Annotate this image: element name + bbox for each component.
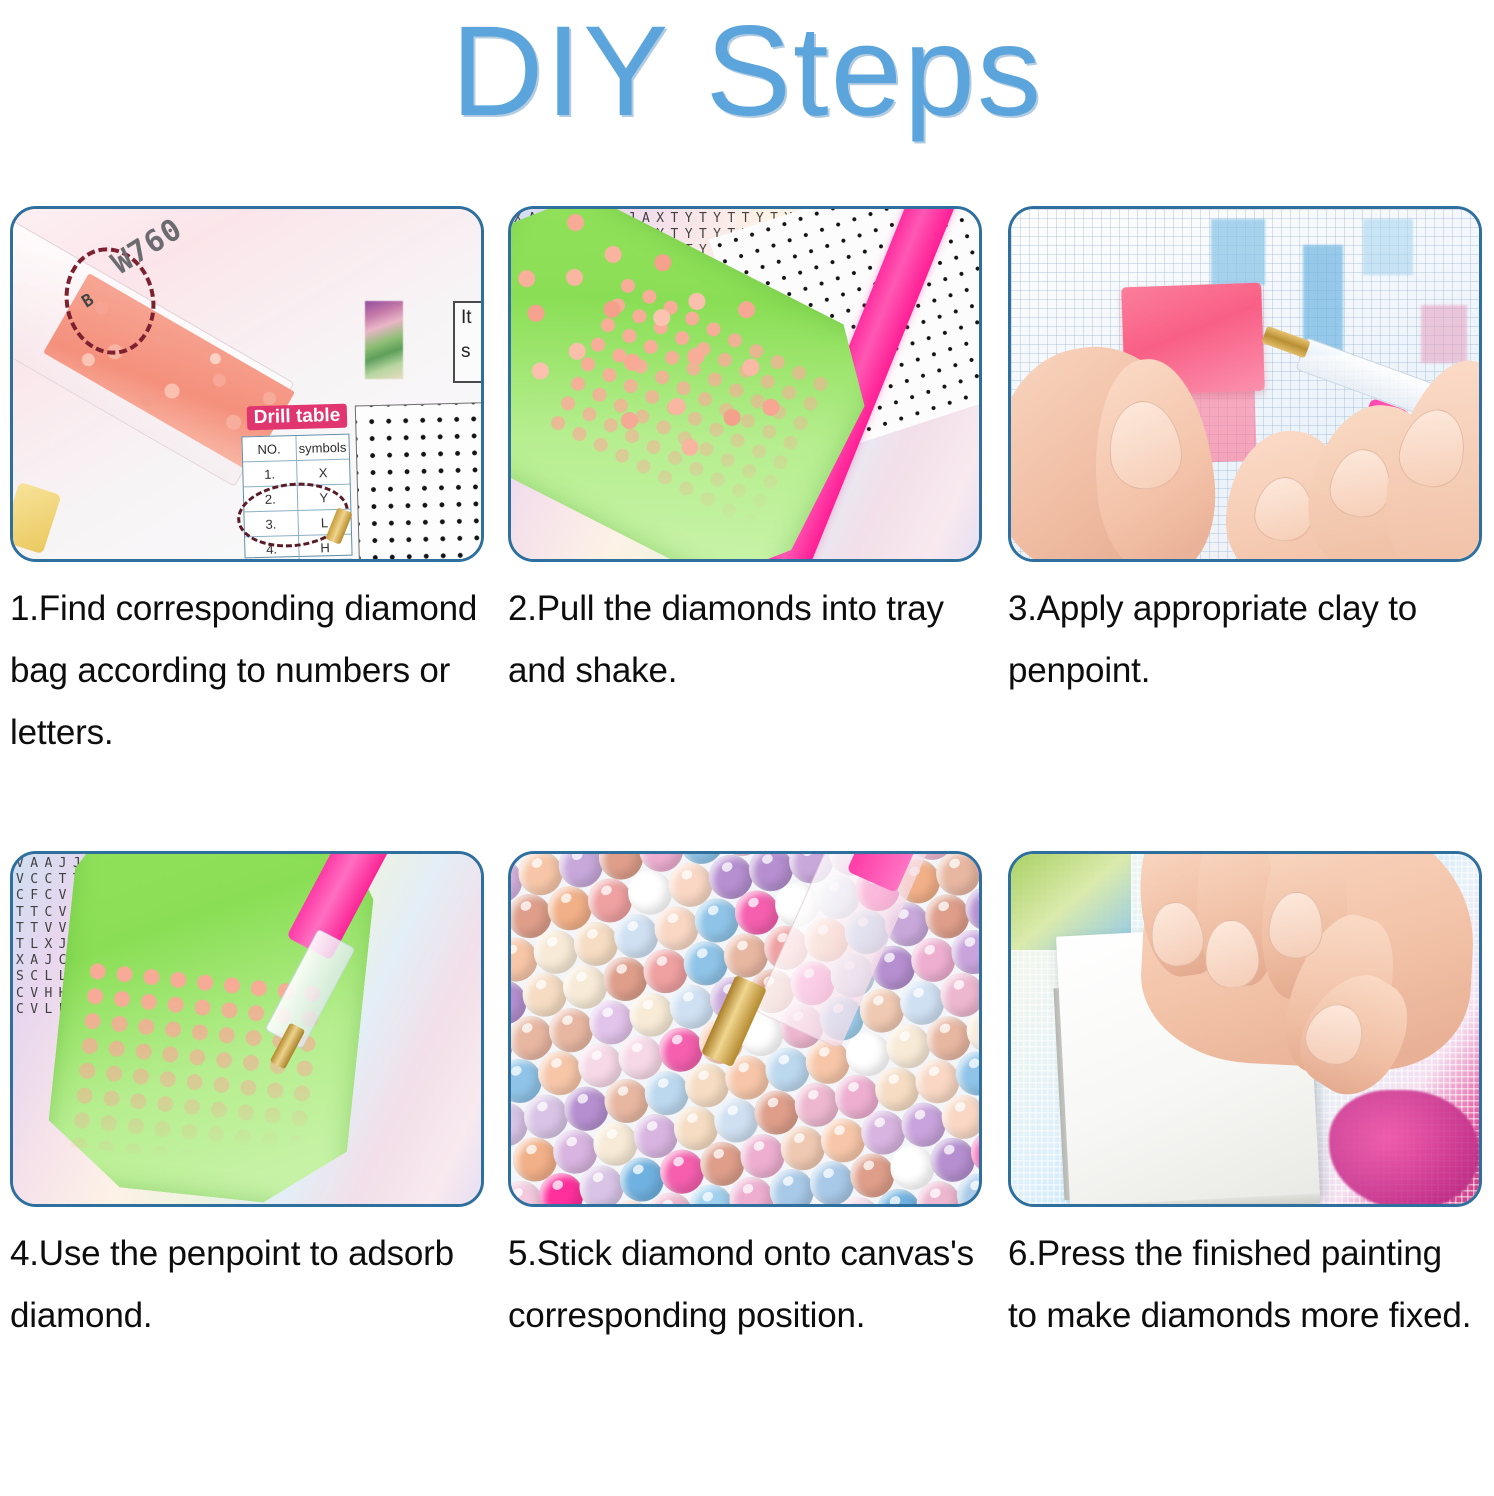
pegboard-dots [355, 401, 484, 562]
steps-row-2: VAAJJXVVTTLLVVLCLL VCCTTLLCVVLLCCVVLL CF… [0, 851, 1494, 1496]
drill-table-header-row: NO. symbols [242, 435, 349, 463]
step-caption-6: 6.Press the finished painting to make di… [1008, 1223, 1478, 1347]
step-card-4: VAAJJXVVTTLLVVLCLL VCCTTLLCVVLLCCVVLL CF… [10, 851, 484, 1347]
drill-row-symbol: X [297, 460, 350, 485]
step-photo-4: VAAJJXVVTTLLVVLCLL VCCTTLLCVVLLCCVVLL CF… [10, 851, 484, 1207]
canvas-magenta-patch [1329, 1090, 1479, 1207]
canvas-blue-patch [1363, 219, 1413, 275]
step-photo-2: XAAAAAAJJAXTYTYTTYTYTT XTTJJXTTYTYTYTYTY… [508, 206, 982, 562]
drill-table-title: Drill table [247, 404, 348, 431]
step-caption-1: 1.Find corresponding diamond bag accordi… [10, 578, 480, 764]
step-photo-6 [1008, 851, 1482, 1207]
side-info-line-1: It [461, 307, 472, 329]
step-photo-1: W760 B It s Drill table NO. symbols [10, 206, 484, 562]
steps-row-1: W760 B It s Drill table NO. symbols [0, 206, 1494, 851]
pattern-thumbnail [365, 301, 403, 379]
step-card-6: 6.Press the finished painting to make di… [1008, 851, 1482, 1347]
steps-grid: W760 B It s Drill table NO. symbols [0, 206, 1494, 1496]
step-caption-3: 3.Apply appropriate clay to penpoint. [1008, 578, 1478, 702]
step-caption-2: 2.Pull the diamonds into tray and shake. [508, 578, 978, 702]
step-photo-3 [1008, 206, 1482, 562]
step-card-5: 5.Stick diamond onto canvas's correspond… [508, 851, 982, 1347]
step-caption-4: 4.Use the penpoint to adsorb diamond. [10, 1223, 480, 1347]
side-info-box: It s [453, 301, 484, 383]
yellow-bag-corner [10, 482, 62, 555]
canvas-pink-patch [1421, 305, 1467, 363]
bag-code-label: W760 [106, 211, 189, 281]
drill-table-header-symbols: symbols [296, 435, 349, 460]
canvas-blue-patch [1211, 219, 1265, 285]
step-card-2: XAAAAAAJJAXTYTYTTYTYTT XTTJJXTTYTYTYTYTY… [508, 206, 982, 702]
side-info-line-2: s [461, 341, 471, 363]
page-title: DIY Steps [0, 2, 1494, 142]
diy-steps-infographic: DIY Steps W760 B It [0, 0, 1494, 1395]
step-photo-5 [508, 851, 982, 1207]
step-card-3: 3.Apply appropriate clay to penpoint. [1008, 206, 1482, 702]
drill-table-header-no: NO. [242, 436, 296, 461]
step-card-1: W760 B It s Drill table NO. symbols [10, 206, 484, 764]
step-caption-5: 5.Stick diamond onto canvas's correspond… [508, 1223, 978, 1347]
